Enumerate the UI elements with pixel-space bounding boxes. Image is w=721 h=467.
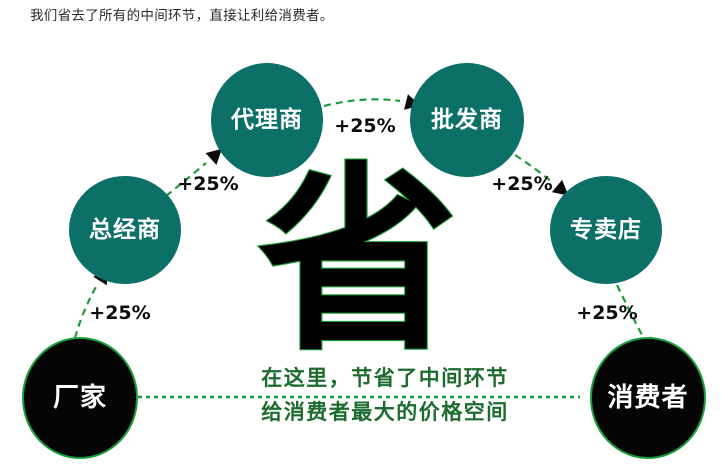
- arrow-general-agent-to-agent-percent-label: +25%: [177, 173, 238, 195]
- center-emblem-character: 省: [258, 146, 458, 379]
- bottom-message-line-1: 在这里，节省了中间环节: [261, 366, 509, 390]
- node-wholesaler-label: 批发商: [431, 106, 503, 133]
- arrow-agent-to-wholesaler: [324, 94, 422, 113]
- node-specialty-store-label: 专卖店: [570, 216, 642, 243]
- arrow-agent-to-wholesaler-line: [324, 99, 400, 106]
- arrow-agent-to-wholesaler-percent-label: +25%: [334, 115, 395, 137]
- node-consumer[interactable]: 消费者: [591, 338, 705, 458]
- bottom-message-line-2: 给消费者最大的价格空间: [261, 400, 509, 424]
- diagram-canvas: 我们省去了所有的中间环节，直接让利给消费者。 省 总经商代理商批发商专卖店厂家消…: [0, 0, 721, 467]
- node-wholesaler[interactable]: 批发商: [410, 63, 524, 177]
- bottom-message: 在这里，节省了中间环节 给消费者最大的价格空间: [261, 366, 509, 424]
- node-general-agent[interactable]: 总经商: [69, 176, 181, 284]
- node-manufacturer-label: 厂家: [53, 382, 107, 413]
- arrow-specialty-store-to-consumer-percent-label: +25%: [576, 302, 637, 324]
- node-consumer-label: 消费者: [607, 383, 688, 413]
- node-manufacturer[interactable]: 厂家: [23, 338, 137, 458]
- node-general-agent-label: 总经商: [89, 216, 161, 243]
- arrow-manufacturer-to-general-agent-percent-label: +25%: [89, 302, 150, 324]
- supply-chain-diagram: 省 总经商代理商批发商专卖店厂家消费者 +25%+25%+25%+25%+25%…: [0, 0, 721, 467]
- node-agent[interactable]: 代理商: [211, 63, 323, 177]
- arrow-wholesaler-to-specialty-store-percent-label: +25%: [491, 173, 552, 195]
- node-specialty-store[interactable]: 专卖店: [550, 176, 662, 284]
- node-agent-label: 代理商: [230, 106, 303, 133]
